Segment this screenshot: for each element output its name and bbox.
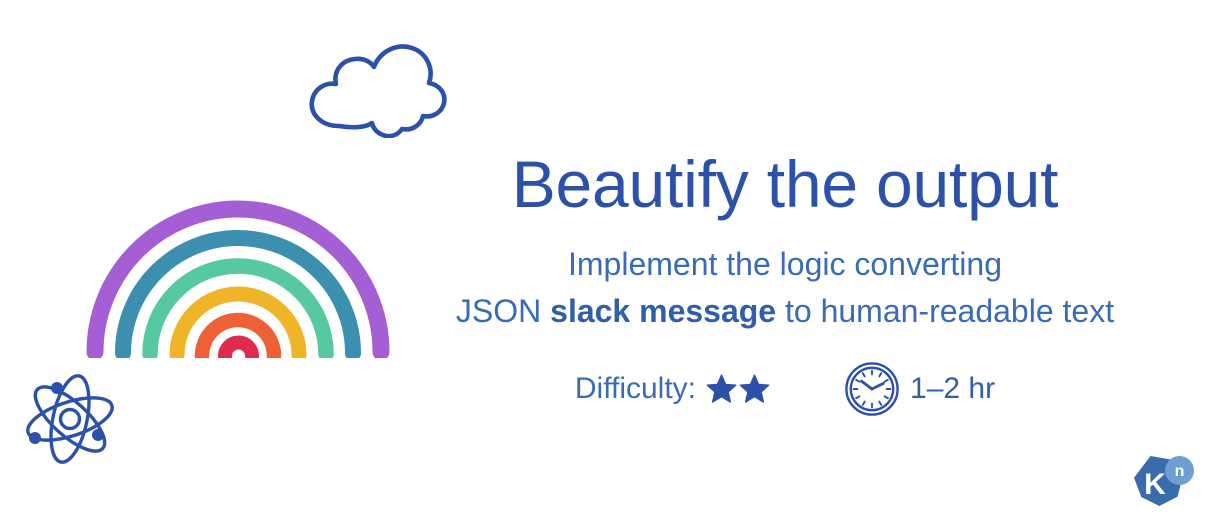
page-title: Beautify the output <box>420 150 1150 219</box>
duration-label: 1–2 hr <box>910 374 995 404</box>
meta-row: Difficulty: <box>420 361 1150 417</box>
subtitle-suffix: to human-readable text <box>776 293 1114 329</box>
cloud-icon <box>301 38 451 138</box>
star-icon <box>739 374 770 404</box>
star-icon <box>706 374 737 404</box>
difficulty-label: Difficulty: <box>575 374 696 404</box>
atom-icon <box>18 372 122 466</box>
difficulty-meta: Difficulty: <box>575 374 770 404</box>
subtitle-emphasis: slack message <box>550 293 776 329</box>
logo-badge-letter: n <box>1175 463 1185 480</box>
logo-mark-letter: K <box>1144 468 1166 501</box>
rainbow-icon <box>78 186 398 358</box>
brand-logo[interactable]: K n <box>1122 452 1200 522</box>
subtitle-line-1: Implement the logic converting <box>420 241 1150 288</box>
subtitle-prefix: JSON <box>456 293 550 329</box>
difficulty-rating <box>706 374 770 404</box>
slide-canvas: Beautify the output Implement the logic … <box>0 0 1216 532</box>
subtitle-block: Implement the logic converting JSON slac… <box>420 241 1150 335</box>
duration-meta: 1–2 hr <box>844 361 995 417</box>
content-block: Beautify the output Implement the logic … <box>420 150 1150 417</box>
subtitle-line-2: JSON slack message to human-readable tex… <box>420 288 1150 335</box>
clock-icon <box>844 361 900 417</box>
